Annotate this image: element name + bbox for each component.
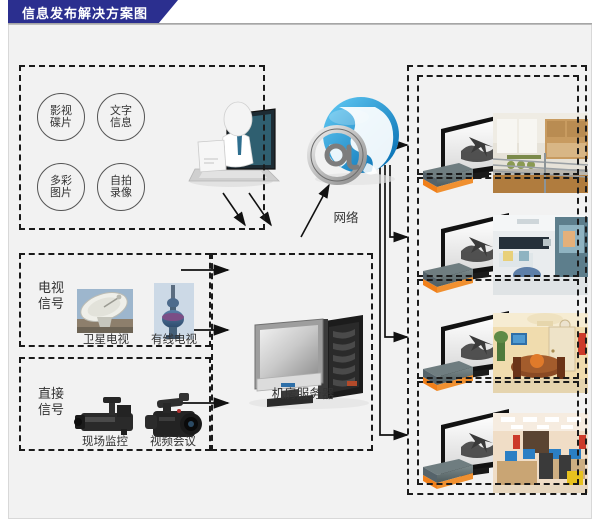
caption-network: 网络 (321, 207, 371, 226)
page-header: 信息发布解决方案图 (0, 0, 600, 24)
caption-satellite-tv: 卫星电视 (71, 331, 141, 347)
circle-line-2: 图片 (50, 187, 72, 199)
source-circle-images[interactable]: 多彩 图片 (37, 163, 85, 211)
diagram-canvas: 影视 碟片 文字 信息 多彩 图片 自拍 录像 电视 信号 卫星电视 有线电视 … (8, 25, 592, 519)
endpoint-box-3 (417, 279, 579, 379)
source-circle-selfie-video[interactable]: 自拍 录像 (97, 163, 145, 211)
source-circle-text-info[interactable]: 文字 信息 (97, 93, 145, 141)
endpoint-box-4 (417, 381, 579, 485)
source-circle-video-disc[interactable]: 影视 碟片 (37, 93, 85, 141)
direct-signal-label: 直接 信号 (31, 387, 71, 418)
direct-signal-label-line1: 直接 (31, 387, 71, 403)
tv-signal-label-line2: 信号 (31, 297, 71, 313)
direct-signal-label-line2: 信号 (31, 403, 71, 419)
diagram-page: 信息发布解决方案图 (0, 0, 600, 527)
caption-cable-tv: 有线电视 (139, 331, 209, 347)
caption-onsite-monitoring: 现场监控 (69, 433, 141, 449)
circle-line-2: 碟片 (50, 117, 72, 129)
endpoint-box-2 (417, 177, 579, 277)
caption-video-conference: 视频会议 (137, 433, 209, 449)
globe-at-icon (311, 97, 399, 185)
endpoint-box-1 (417, 75, 579, 175)
page-title: 信息发布解决方案图 (22, 3, 148, 22)
caption-server: 机房服务器 (253, 383, 353, 402)
circle-line-2: 录像 (110, 187, 132, 199)
tv-signal-label: 电视 信号 (31, 281, 71, 312)
header-tab: 信息发布解决方案图 (8, 0, 178, 24)
tv-signal-label-line1: 电视 (31, 281, 71, 297)
circle-line-2: 信息 (110, 117, 132, 129)
server-box (211, 253, 373, 451)
